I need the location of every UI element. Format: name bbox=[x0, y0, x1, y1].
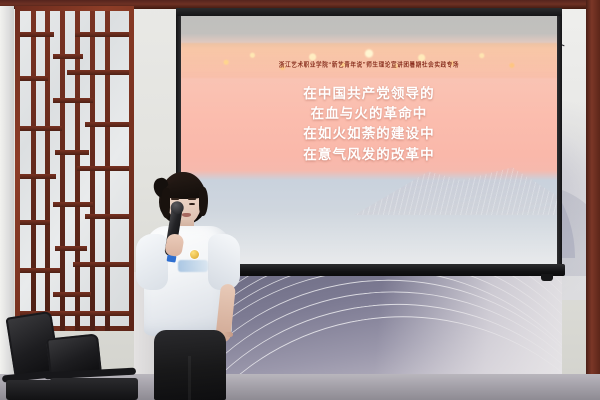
slide-mountain-silhouette bbox=[354, 165, 557, 215]
hair-side-right bbox=[199, 187, 208, 216]
speaker-person bbox=[126, 172, 258, 400]
mouth bbox=[182, 213, 191, 217]
slide-line-2: 在血与火的革命中 bbox=[311, 106, 428, 123]
eyebrow-left bbox=[171, 198, 179, 200]
screen-edge-right bbox=[557, 16, 562, 266]
sleeve-right bbox=[208, 234, 240, 290]
shirt-graphic bbox=[178, 260, 208, 272]
slide-line-3: 在如火如荼的建设中 bbox=[303, 126, 434, 143]
office-chair-2 bbox=[44, 336, 140, 400]
black-pants bbox=[154, 330, 226, 400]
slide-body-text: 在中国共产党领导的 在血与火的革命中 在如火如荼的建设中 在意气风发的改革中 bbox=[181, 86, 557, 164]
slide-line-4: 在意气风发的改革中 bbox=[303, 147, 434, 164]
photo-scene: 浙江艺术职业学院“新艺青年说”师生理论宣讲团暑期社会实践专场 在中国共产党领导的… bbox=[0, 0, 600, 400]
slide-line-1: 在中国共产党领导的 bbox=[303, 86, 434, 103]
eyebrow-right bbox=[188, 198, 196, 200]
wood-column-right bbox=[586, 0, 600, 400]
sleeve-left bbox=[136, 234, 168, 290]
wooden-lattice-screen bbox=[15, 6, 134, 331]
slide-banner: 浙江艺术职业学院“新艺青年说”师生理论宣讲团暑期社会实践专场 bbox=[181, 53, 557, 71]
hair-side-left bbox=[161, 188, 170, 218]
slide-banner-title: 浙江艺术职业学院“新艺青年说”师生理论宣讲团暑期社会实践专场 bbox=[279, 60, 459, 69]
shirt-badge bbox=[190, 250, 199, 259]
